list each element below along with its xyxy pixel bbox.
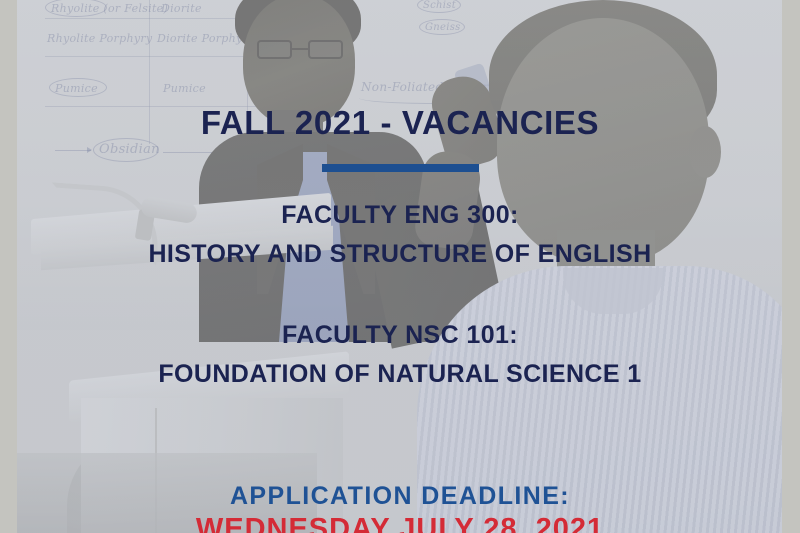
- text-overlay: FALL 2021 - VACANCIES FACULTY ENG 300: H…: [0, 0, 800, 533]
- title-divider: [322, 164, 479, 172]
- page-title: FALL 2021 - VACANCIES: [0, 104, 800, 142]
- vacancy-poster: Rhyolite (or Felsite) Diorite Basalt Rhy…: [0, 0, 800, 533]
- vacancy-item-eng300: FACULTY ENG 300: HISTORY AND STRUCTURE O…: [0, 201, 800, 269]
- vacancy-faculty-label: FACULTY ENG 300:: [0, 201, 800, 230]
- vacancy-course-title: HISTORY AND STRUCTURE OF ENGLISH: [0, 240, 800, 269]
- vacancy-item-nsc101: FACULTY NSC 101: FOUNDATION OF NATURAL S…: [0, 321, 800, 389]
- vacancy-course-title: FOUNDATION OF NATURAL SCIENCE 1: [0, 360, 800, 389]
- vacancy-faculty-label: FACULTY NSC 101:: [0, 321, 800, 350]
- application-deadline-label: APPLICATION DEADLINE:: [0, 482, 800, 511]
- application-deadline-date: WEDNESDAY JULY 28, 2021: [0, 513, 800, 533]
